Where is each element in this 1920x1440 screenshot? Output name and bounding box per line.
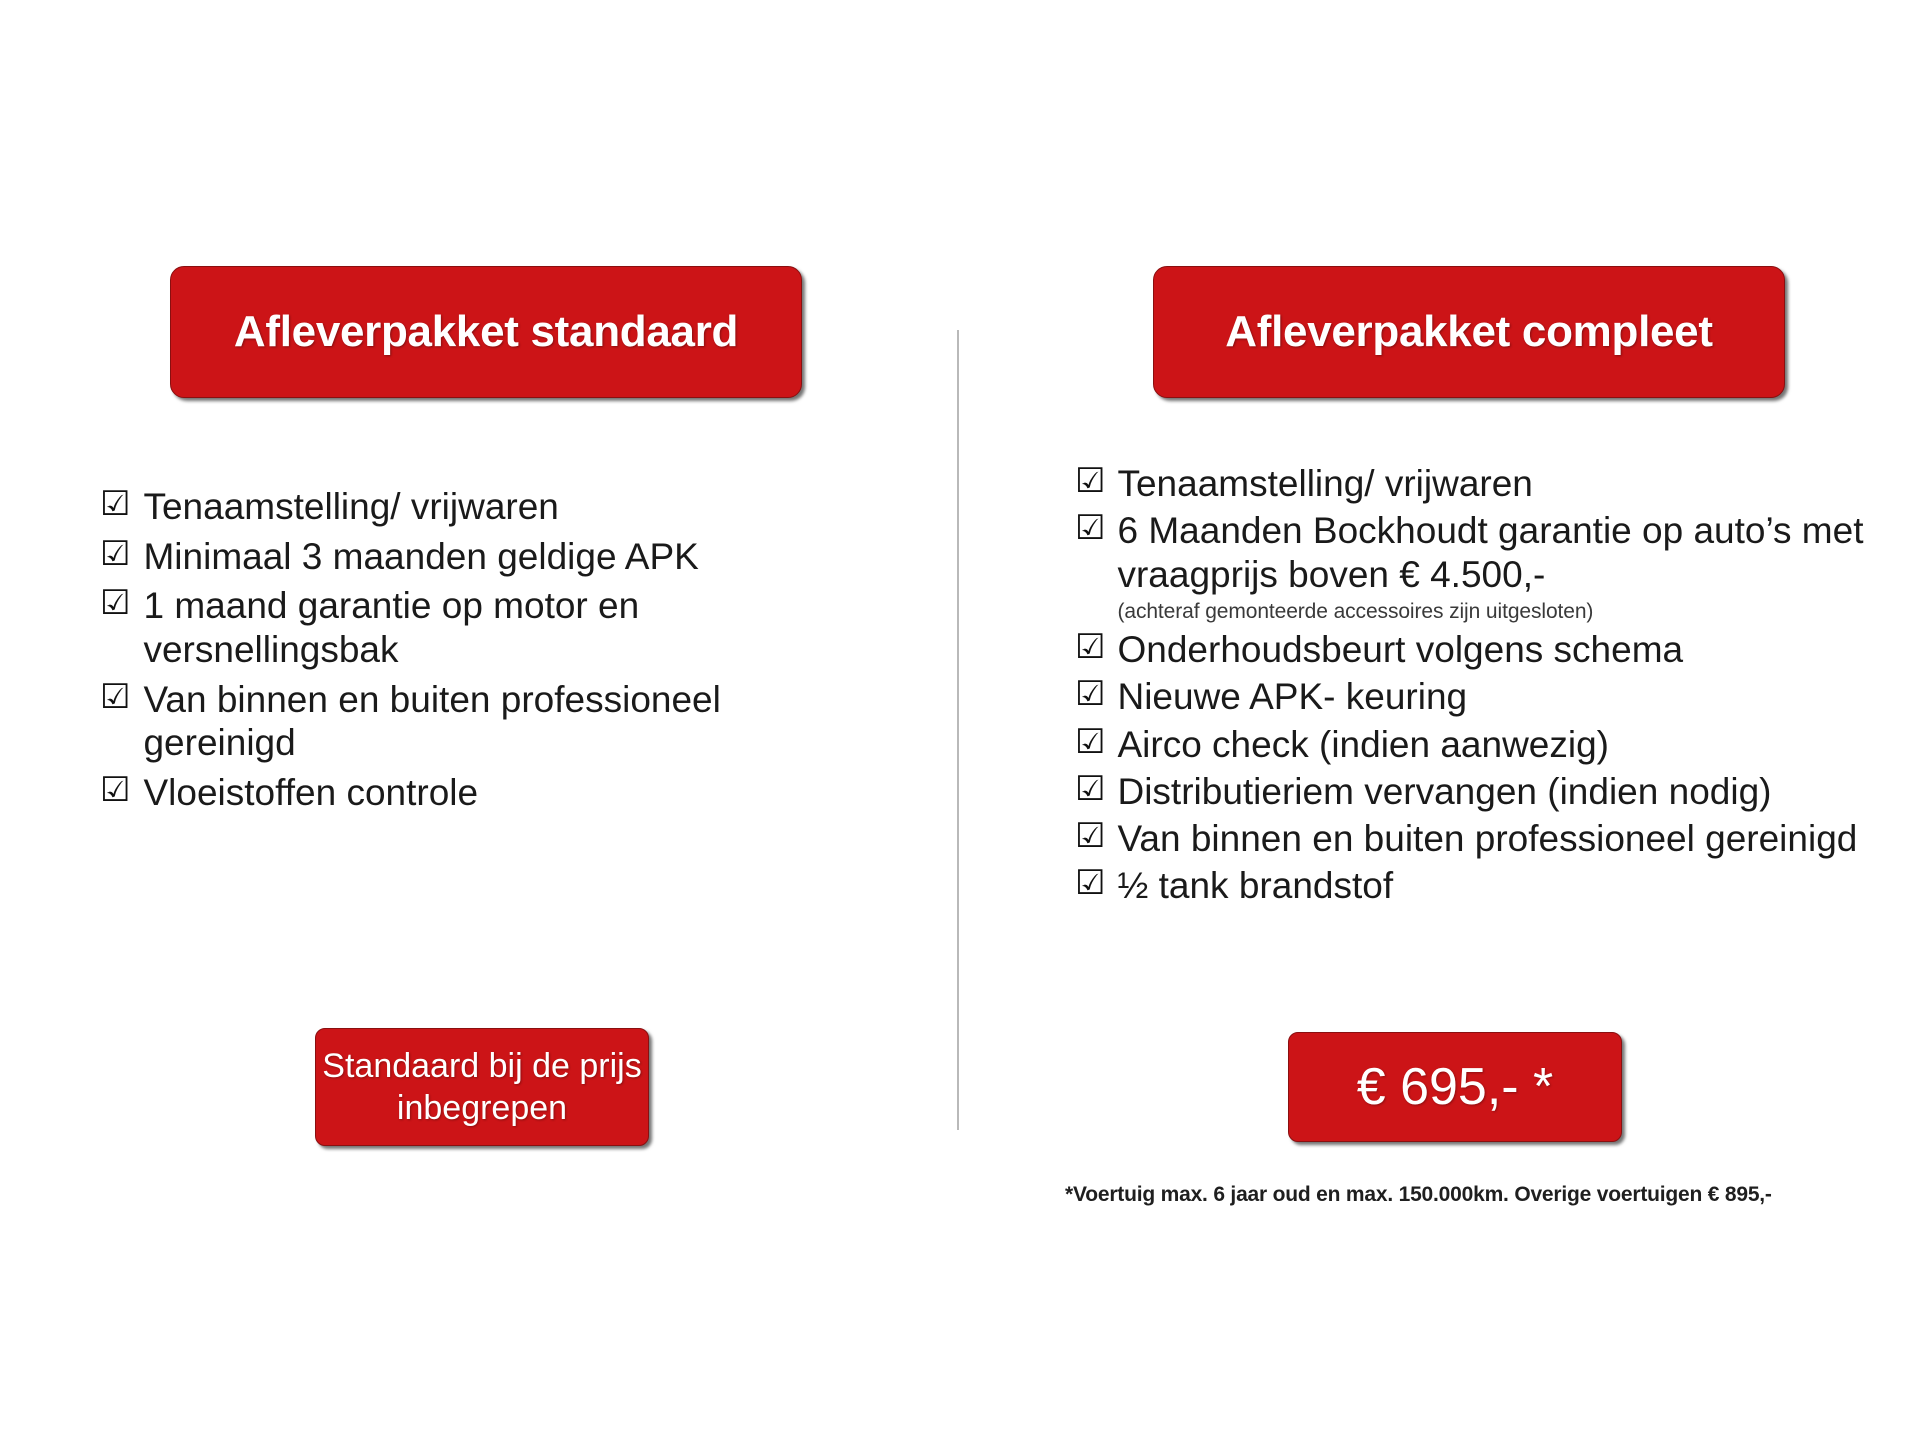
checkbox-checked-icon: ☑ <box>1075 819 1105 853</box>
checkbox-checked-icon: ☑ <box>100 773 130 807</box>
list-item: ☑ Minimaal 3 maanden geldige APK <box>100 535 820 579</box>
checkbox-checked-icon: ☑ <box>1075 630 1105 664</box>
checkbox-checked-icon: ☑ <box>100 586 130 620</box>
checkbox-checked-icon: ☑ <box>100 487 130 521</box>
left-feature-list: ☑ Tenaamstelling/ vrijwaren ☑ Minimaal 3… <box>100 485 820 821</box>
list-item: ☑ 6 Maanden Bockhoudt garantie op auto’s… <box>1075 509 1875 624</box>
price-badge: € 695,- * <box>1288 1032 1622 1142</box>
list-item-label: 6 Maanden Bockhoudt garantie op auto’s m… <box>1117 509 1875 624</box>
list-item-label: Tenaamstelling/ vrijwaren <box>143 485 558 529</box>
checkbox-checked-icon: ☑ <box>1075 511 1105 545</box>
checkbox-checked-icon: ☑ <box>1075 677 1105 711</box>
checkbox-checked-icon: ☑ <box>100 680 130 714</box>
list-item: ☑ Vloeistoffen controle <box>100 771 820 815</box>
list-item-subnote: (achteraf gemonteerde accessoires zijn u… <box>1117 599 1875 624</box>
list-item-label: ½ tank brandstof <box>1117 864 1393 907</box>
list-item: ☑ Onderhoudsbeurt volgens schema <box>1075 628 1875 671</box>
column-divider <box>957 330 959 1130</box>
list-item: ☑ Van binnen en buiten professioneel ger… <box>1075 817 1875 860</box>
list-item-text: 6 Maanden Bockhoudt garantie op auto’s m… <box>1117 510 1863 594</box>
list-item-label: 1 maand garantie op motor en versnelling… <box>143 584 820 671</box>
list-item: ☑ 1 maand garantie op motor en versnelli… <box>100 584 820 671</box>
list-item-label: Tenaamstelling/ vrijwaren <box>1117 462 1532 505</box>
list-item-label: Minimaal 3 maanden geldige APK <box>143 535 698 579</box>
list-item-label: Vloeistoffen controle <box>143 771 478 815</box>
list-item: ☑ Nieuwe APK- keuring <box>1075 675 1875 718</box>
list-item-label: Airco check (indien aanwezig) <box>1117 723 1609 766</box>
list-item: ☑ Distributieriem vervangen (indien nodi… <box>1075 770 1875 813</box>
right-feature-list: ☑ Tenaamstelling/ vrijwaren ☑ 6 Maanden … <box>1075 462 1875 912</box>
standard-included-badge: Standaard bij de prijs inbegrepen <box>315 1028 649 1146</box>
list-item: ☑ ½ tank brandstof <box>1075 864 1875 907</box>
checkbox-checked-icon: ☑ <box>1075 725 1105 759</box>
slide-canvas: Afleverpakket standaard ☑ Tenaamstelling… <box>0 0 1920 1440</box>
list-item: ☑ Airco check (indien aanwezig) <box>1075 723 1875 766</box>
list-item-label: Onderhoudsbeurt volgens schema <box>1117 628 1683 671</box>
right-package-header: Afleverpakket compleet <box>1153 266 1785 398</box>
list-item-label: Nieuwe APK- keuring <box>1117 675 1467 718</box>
list-item-label: Van binnen en buiten professioneel gerei… <box>1117 817 1857 860</box>
checkbox-checked-icon: ☑ <box>1075 464 1105 498</box>
list-item-label: Distributieriem vervangen (indien nodig) <box>1117 770 1771 813</box>
list-item: ☑ Tenaamstelling/ vrijwaren <box>1075 462 1875 505</box>
list-item-label: Van binnen en buiten professioneel gerei… <box>143 678 820 765</box>
list-item: ☑ Van binnen en buiten professioneel ger… <box>100 678 820 765</box>
checkbox-checked-icon: ☑ <box>1075 772 1105 806</box>
price-footnote: *Voertuig max. 6 jaar oud en max. 150.00… <box>1065 1183 1895 1207</box>
checkbox-checked-icon: ☑ <box>100 537 130 571</box>
checkbox-checked-icon: ☑ <box>1075 866 1105 900</box>
list-item: ☑ Tenaamstelling/ vrijwaren <box>100 485 820 529</box>
left-package-header: Afleverpakket standaard <box>170 266 802 398</box>
